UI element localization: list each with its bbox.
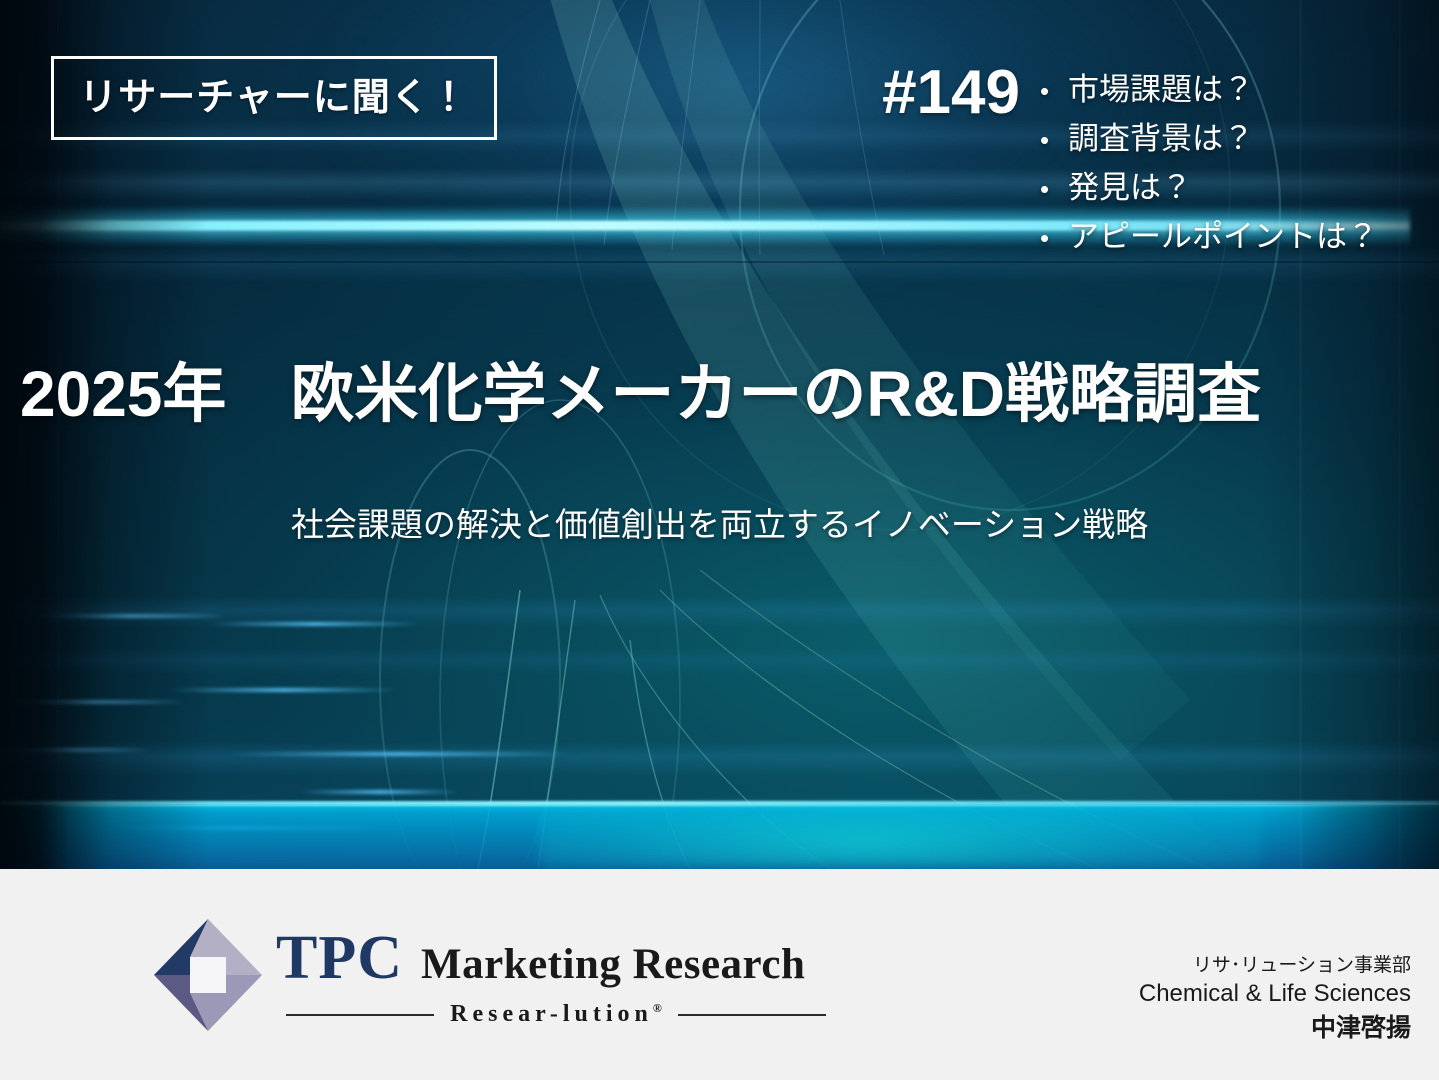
background-dash: [300, 790, 460, 794]
tpc-tagline-text: Resear-lution: [450, 1001, 653, 1027]
series-title-box: リサーチャーに聞く！: [51, 56, 497, 140]
background-dash: [230, 752, 570, 756]
tagline-rule-left: [286, 1014, 434, 1016]
credit-department: リサ･リューション事業部: [1139, 953, 1411, 978]
background-dash: [168, 688, 398, 692]
question-list: • 市場課題は？ • 調査背景は？ • 発見は？ • アピールポイントは？: [1040, 66, 1378, 262]
background-bottom-band-right-shade: [1298, 805, 1439, 869]
page-subtitle: 社会課題の解決と価値創出を両立するイノベーション戦略: [0, 505, 1439, 545]
question-item: • 発見は？: [1040, 164, 1378, 213]
bullet-icon: •: [1040, 214, 1068, 262]
credit-person-name: 中津啓揚: [1139, 1012, 1411, 1045]
tpc-brand-suffix: Marketing Research: [421, 943, 805, 986]
credit-division: Chemical & Life Sciences: [1139, 978, 1411, 1010]
bullet-icon: •: [1040, 165, 1068, 213]
author-credits: リサ･リューション事業部 Chemical & Life Sciences 中津…: [1139, 953, 1411, 1045]
question-label: アピールポイントは？: [1068, 213, 1378, 261]
series-title-label: リサーチャーに聞く！: [79, 79, 469, 117]
hero-background: リサーチャーに聞く！ #149 • 市場課題は？ • 調査背景は？ • 発見は？…: [0, 0, 1439, 869]
question-label: 調査背景は？: [1068, 115, 1254, 163]
question-item: • 市場課題は？: [1040, 66, 1378, 115]
tpc-brand: TPC: [276, 927, 403, 989]
tagline-rule-right: [678, 1014, 826, 1016]
background-dash: [36, 614, 226, 618]
registered-mark-icon: ®: [653, 1001, 662, 1015]
issue-number: #149: [790, 62, 1020, 124]
diamond-logo-icon: [152, 917, 264, 1033]
background-dash: [0, 748, 150, 752]
bullet-icon: •: [1040, 67, 1068, 115]
tpc-logo-text: TPC Marketing Research Resear-lution®: [276, 917, 826, 1028]
background-bottom-band-left-shade: [0, 805, 66, 869]
background-dash: [0, 700, 185, 704]
page-title: 2025年 欧米化学メーカーのR&D戦略調査: [20, 359, 1420, 429]
tpc-logo-wordmark: TPC Marketing Research: [276, 927, 826, 989]
question-item: • アピールポイントは？: [1040, 213, 1378, 262]
tpc-logo: TPC Marketing Research Resear-lution®: [152, 917, 826, 1033]
footer: TPC Marketing Research Resear-lution® リサ…: [0, 869, 1439, 1080]
question-item: • 調査背景は？: [1040, 115, 1378, 164]
tpc-tagline: Resear-lution®: [434, 1001, 678, 1028]
tpc-logo-tagline-row: Resear-lution®: [286, 1001, 826, 1028]
question-label: 市場課題は？: [1068, 66, 1254, 114]
slide-root: リサーチャーに聞く！ #149 • 市場課題は？ • 調査背景は？ • 発見は？…: [0, 0, 1439, 1080]
bullet-icon: •: [1040, 116, 1068, 164]
background-bottom-band-teal-glow: [540, 806, 1260, 868]
question-label: 発見は？: [1068, 164, 1192, 212]
background-dash: [210, 622, 420, 626]
